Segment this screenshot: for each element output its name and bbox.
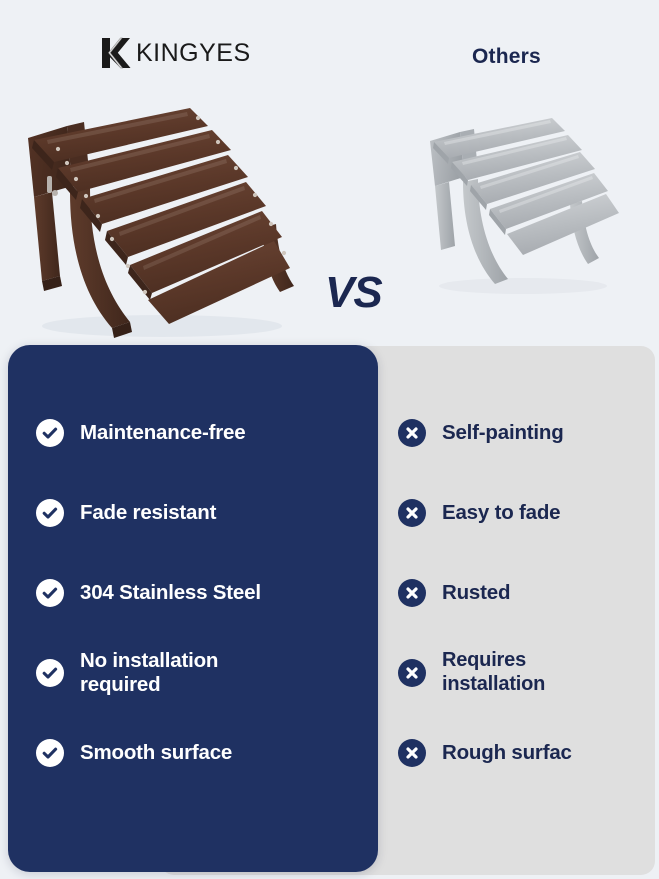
list-item-label: Requires installation — [442, 649, 545, 696]
kingyes-k-logo-icon — [100, 37, 138, 69]
list-item-label: Smooth surface — [80, 741, 232, 765]
cross-circle-icon — [398, 579, 426, 607]
brand-logo: KINGYES — [100, 36, 251, 70]
list-item: Easy to fade — [378, 473, 655, 553]
header: KINGYES Others — [0, 0, 659, 96]
product-showcase: VS — [0, 90, 659, 340]
check-circle-icon — [36, 739, 64, 767]
list-item: Self-painting — [378, 393, 655, 473]
comparison-section: Maintenance-free Fade resistant 304 Stai… — [0, 345, 659, 879]
list-item-label: Maintenance-free — [80, 421, 245, 445]
cross-circle-icon — [398, 659, 426, 687]
check-circle-icon — [36, 419, 64, 447]
cross-circle-icon — [398, 499, 426, 527]
others-ottoman-image — [418, 108, 633, 298]
pros-list: Maintenance-free Fade resistant 304 Stai… — [8, 393, 378, 793]
cross-circle-icon — [398, 739, 426, 767]
list-item-label: No installation required — [80, 649, 218, 697]
list-item: Smooth surface — [8, 713, 378, 793]
list-item-label: Self-painting — [442, 421, 564, 445]
others-title: Others — [472, 45, 541, 69]
list-item: Requires installation — [378, 633, 655, 713]
list-item: 304 Stainless Steel — [8, 553, 378, 633]
list-item: Maintenance-free — [8, 393, 378, 473]
check-circle-icon — [36, 499, 64, 527]
check-circle-icon — [36, 579, 64, 607]
brand-name: KINGYES — [136, 37, 251, 69]
list-item-label: Rusted — [442, 581, 510, 605]
list-item: Rusted — [378, 553, 655, 633]
list-item: No installation required — [8, 633, 378, 713]
kingyes-ottoman-image — [12, 100, 322, 340]
list-item-label: Easy to fade — [442, 501, 560, 525]
list-item: Rough surfac — [378, 713, 655, 793]
cross-circle-icon — [398, 419, 426, 447]
list-item-label: Fade resistant — [80, 501, 216, 525]
check-circle-icon — [36, 659, 64, 687]
list-item-label: Rough surfac — [442, 741, 572, 765]
list-item-label: 304 Stainless Steel — [80, 581, 261, 605]
cons-list: Self-painting Easy to fade Rusted Requir… — [378, 393, 655, 793]
list-item: Fade resistant — [8, 473, 378, 553]
vs-label: VS — [325, 268, 382, 318]
